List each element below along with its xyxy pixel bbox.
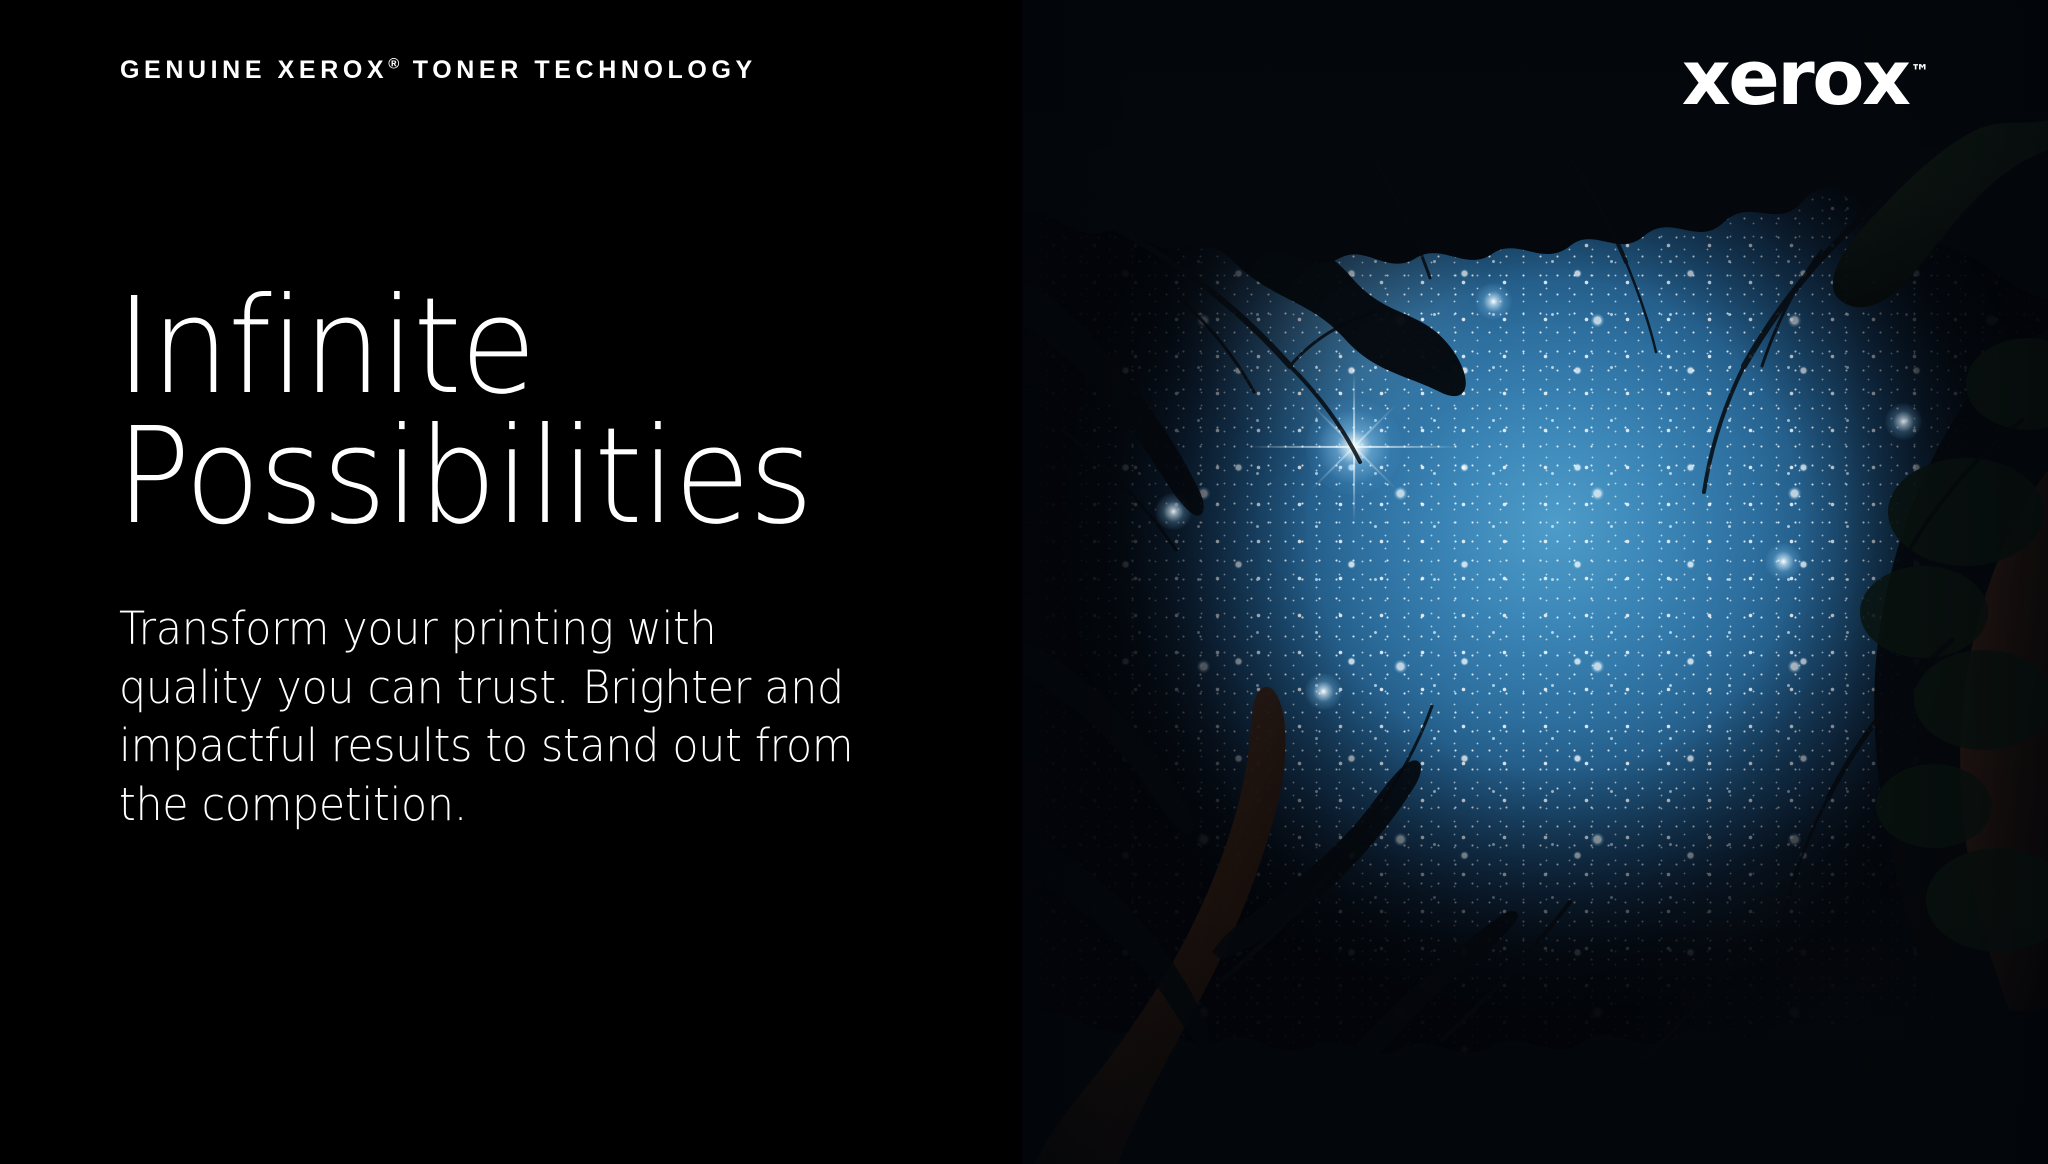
hero-image: xerox™ (1022, 0, 2048, 1164)
trademark-symbol: ™ (1911, 61, 1931, 83)
registered-trademark-symbol: ® (388, 56, 401, 73)
eyebrow-kicker: GENUINE XEROX® TONER TECHNOLOGY (120, 55, 757, 85)
copy-panel: GENUINE XEROX® TONER TECHNOLOGY Infinite… (0, 0, 1022, 1164)
tree-canopy-silhouette (1022, 0, 2048, 1164)
logo-wordmark: xerox (1682, 33, 1909, 122)
eyebrow-text-after: TONER TECHNOLOGY (401, 56, 757, 84)
xerox-logo: xerox™ (1682, 40, 1930, 116)
eyebrow-text-before: GENUINE XEROX (120, 56, 388, 84)
body-paragraph: Transform your printing with quality you… (119, 600, 879, 834)
page-title: Infinite Possibilities (116, 282, 812, 543)
marketing-banner: GENUINE XEROX® TONER TECHNOLOGY Infinite… (0, 0, 2048, 1164)
